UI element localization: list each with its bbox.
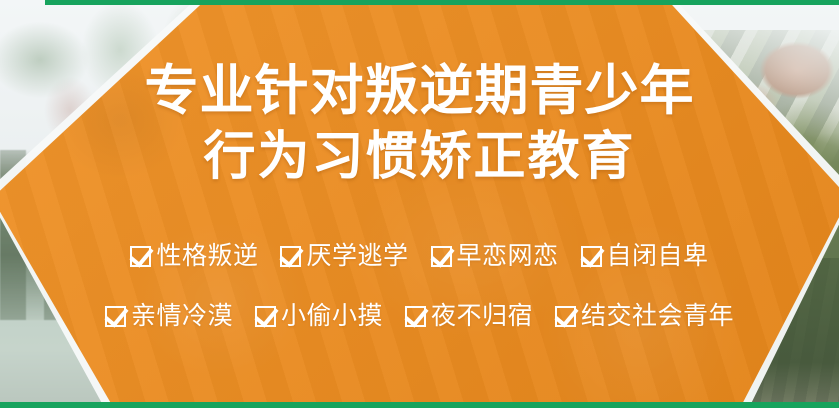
green-rule-bottom [0, 402, 839, 408]
checklist-item-label: 小偷小摸 [281, 304, 383, 329]
checkbox-checked-icon [255, 306, 276, 327]
checklist-item-label: 性格叛逆 [156, 244, 258, 269]
promo-banner: 专业针对叛逆期青少年 行为习惯矫正教育 性格叛逆 厌学逃学 早恋网恋 自闭自卑 [0, 0, 839, 408]
green-rule-top [45, 0, 839, 5]
checklist-row-1: 性格叛逆 厌学逃学 早恋网恋 自闭自卑 [0, 238, 839, 274]
checklist-item-label: 厌学逃学 [306, 244, 408, 269]
checkbox-checked-icon [405, 306, 426, 327]
checklist-item: 自闭自卑 [581, 244, 709, 269]
checkbox-checked-icon [431, 246, 452, 267]
checklist-row-2: 亲情冷漠 小偷小摸 夜不归宿 结交社会青年 [0, 298, 839, 334]
checklist-block: 性格叛逆 厌学逃学 早恋网恋 自闭自卑 亲情冷漠 小偷小摸 [0, 238, 839, 334]
checklist-item: 小偷小摸 [255, 304, 383, 329]
checkbox-checked-icon [581, 246, 602, 267]
checklist-item: 夜不归宿 [405, 304, 533, 329]
checklist-item-label: 早恋网恋 [457, 244, 559, 269]
checklist-item-label: 自闭自卑 [607, 244, 709, 269]
checklist-item: 早恋网恋 [431, 244, 559, 269]
checkbox-checked-icon [280, 246, 301, 267]
checklist-item-label: 结交社会青年 [581, 304, 734, 329]
checklist-item: 结交社会青年 [555, 304, 734, 329]
checklist-item: 性格叛逆 [130, 244, 258, 269]
checkbox-checked-icon [555, 306, 576, 327]
checklist-item-label: 夜不归宿 [431, 304, 533, 329]
checkbox-checked-icon [130, 246, 151, 267]
checklist-item: 厌学逃学 [280, 244, 408, 269]
checkbox-checked-icon [105, 306, 126, 327]
checklist-item: 亲情冷漠 [105, 304, 233, 329]
checklist-item-label: 亲情冷漠 [131, 304, 233, 329]
